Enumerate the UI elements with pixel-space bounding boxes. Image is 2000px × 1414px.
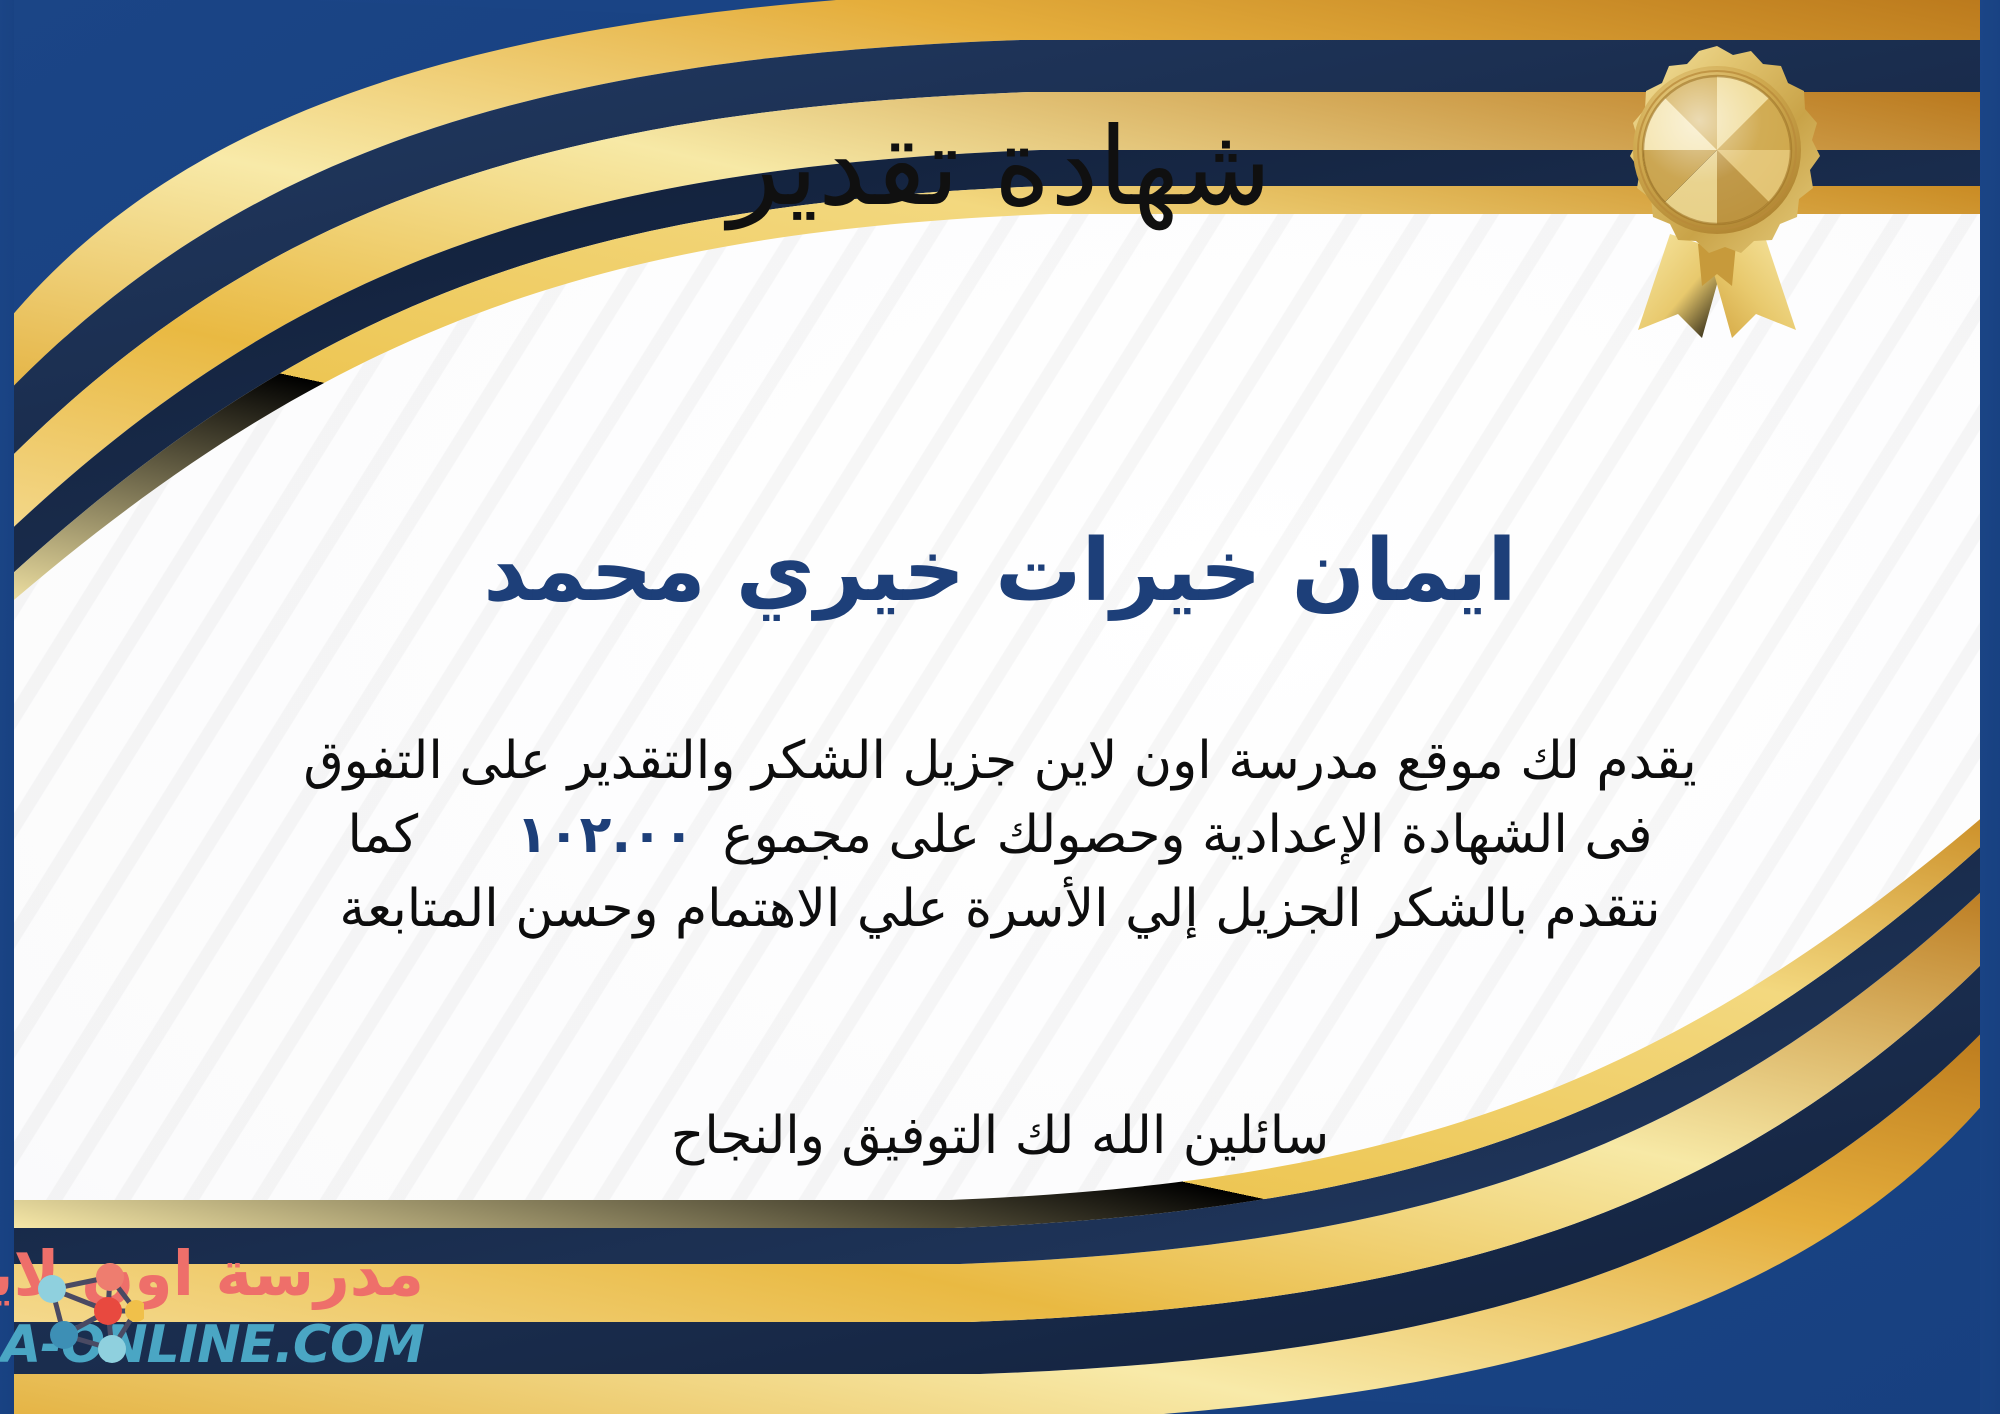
node-light-blue-2 (98, 1335, 126, 1363)
total-score-value: ١٠٢.٠٠ (488, 805, 722, 865)
node-teal-dark (50, 1321, 78, 1349)
network-nodes-icon (24, 1249, 144, 1369)
site-logo[interactable]: مدرسة اون لاين MADRSA-ONLINE.COM (24, 1227, 494, 1392)
body-line-3: نتقدم بالشكر الجزيل إلي الأسرة علي الاهت… (58, 873, 1942, 947)
body-line-2: فى الشهادة الإعدادية وحصولك على مجموع١٠٢… (58, 799, 1942, 873)
body-line-2-prefix: فى الشهادة الإعدادية وحصولك على مجموع (723, 805, 1653, 865)
node-coral (96, 1263, 124, 1291)
node-red (94, 1297, 122, 1325)
body-line-2-suffix: كما (347, 805, 418, 865)
certificate-canvas: شهادة تقدير ايمان خيرات خيري محمد يقدم ل… (0, 0, 2000, 1414)
node-light-blue (38, 1275, 66, 1303)
body-line-1: يقدم لك موقع مدرسة اون لاين جزيل الشكر و… (58, 725, 1942, 799)
certificate-body: يقدم لك موقع مدرسة اون لاين جزيل الشكر و… (58, 725, 1942, 946)
closing-wish: سائلين الله لك التوفيق والنجاح (0, 1100, 2000, 1173)
recipient-name: ايمان خيرات خيري محمد (0, 520, 2000, 623)
page-title: شهادة تقدير (0, 108, 2000, 229)
